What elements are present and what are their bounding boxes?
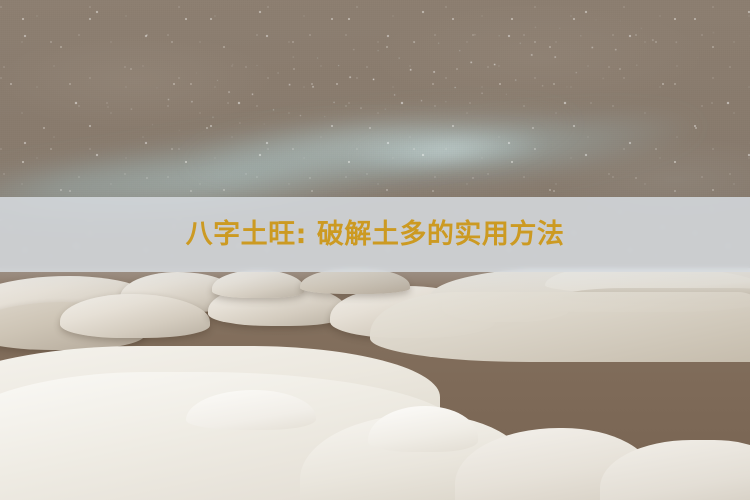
ground-landscape [0, 268, 750, 500]
banner-image: 八字土旺: 破解土多的实用方法 [0, 0, 750, 500]
page-title: 八字土旺: 破解土多的实用方法 [186, 221, 565, 248]
title-banner-strip: 八字土旺: 破解土多的实用方法 [0, 197, 750, 272]
ice-slab [370, 292, 750, 362]
ice-mound [212, 270, 304, 298]
